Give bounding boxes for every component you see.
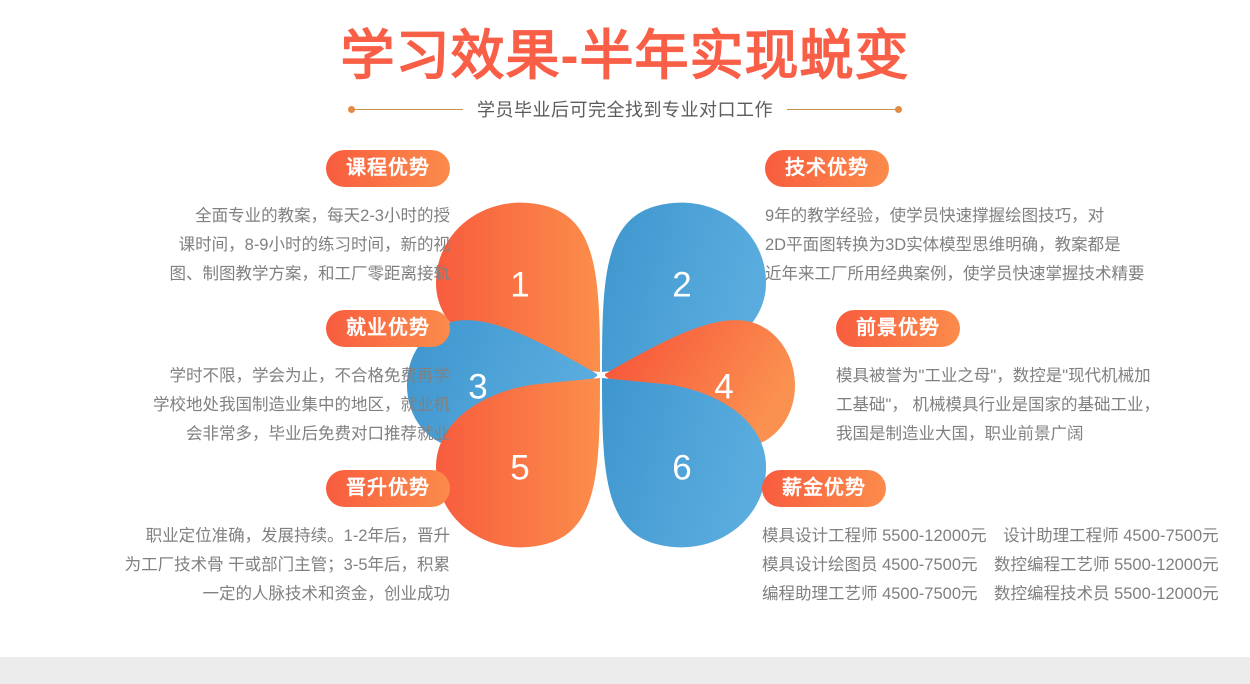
body-line: 图、制图教学方案，和工厂零距离接轨	[60, 260, 450, 289]
body-line: 我国是制造业大国，职业前景广阔	[836, 420, 1201, 449]
subtitle-rule-left	[351, 109, 463, 110]
block-body: 模具被誉为"工业之母"，数控是"现代机械加 工基础"， 机械模具行业是国家的基础…	[836, 362, 1201, 449]
body-line: 学时不限，学会为止，不合格免费再学	[40, 362, 450, 391]
petal-2-number: 2	[672, 266, 691, 305]
header: 学习效果-半年实现蜕变 学员毕业后可完全找到专业对口工作	[0, 0, 1250, 122]
petal-diagram: 1 2 3 4 5	[398, 180, 802, 570]
body-line: 课时间，8-9小时的练习时间，新的视	[60, 231, 450, 260]
badge-course-advantage[interactable]: 课程优势	[326, 150, 450, 187]
subtitle-row: 学员毕业后可完全找到专业对口工作	[0, 96, 1250, 122]
body-line: 学校地处我国制造业集中的地区，就业机	[40, 391, 450, 420]
advantage-block-prospect: 前景优势 模具被誉为"工业之母"，数控是"现代机械加 工基础"， 机械模具行业是…	[836, 310, 1201, 449]
advantage-block-promotion: 晋升优势 职业定位准确，发展持续。1-2年后，晋升 为工厂技术骨 干或部门主管；…	[55, 470, 450, 609]
advantage-block-salary: 薪金优势 模具设计工程师 5500-12000元 设计助理工程师 4500-75…	[762, 470, 1202, 609]
page-title: 学习效果-半年实现蜕变	[0, 26, 1250, 86]
petal-5-number: 5	[510, 449, 529, 488]
block-body: 学时不限，学会为止，不合格免费再学 学校地处我国制造业集中的地区，就业机 会非常…	[40, 362, 450, 449]
body-line: 全面专业的教案，每天2-3小时的授	[60, 202, 450, 231]
bottom-band	[0, 657, 1250, 684]
advantage-block-course: 课程优势 全面专业的教案，每天2-3小时的授 课时间，8-9小时的练习时间，新的…	[60, 150, 450, 289]
body-line: 工基础"， 机械模具行业是国家的基础工业，	[836, 391, 1201, 420]
badge-technology-advantage[interactable]: 技术优势	[765, 150, 889, 187]
badge-wrap: 就业优势	[40, 310, 450, 347]
body-line: 一定的人脉技术和资金，创业成功	[55, 580, 450, 609]
petal-6-number: 6	[672, 449, 691, 488]
badge-employment-advantage[interactable]: 就业优势	[326, 310, 450, 347]
body-line: 模具设计工程师 5500-12000元 设计助理工程师 4500-7500元	[762, 522, 1202, 551]
badge-wrap: 前景优势	[836, 310, 1201, 347]
badge-wrap: 课程优势	[60, 150, 450, 187]
block-body: 9年的教学经验，使学员快速撑握绘图技巧，对 2D平面图转换为3D实体模型思维明确…	[765, 202, 1195, 289]
body-line: 为工厂技术骨 干或部门主管；3-5年后，积累	[55, 551, 450, 580]
body-line: 编程助理工艺师 4500-7500元 数控编程技术员 5500-12000元	[762, 580, 1202, 609]
body-line: 近年来工厂所用经典案例，使学员快速掌握技术精要	[765, 260, 1195, 289]
body-line: 模具被誉为"工业之母"，数控是"现代机械加	[836, 362, 1201, 391]
rule-dot-left-icon	[348, 106, 355, 113]
advantage-block-technology: 技术优势 9年的教学经验，使学员快速撑握绘图技巧，对 2D平面图转换为3D实体模…	[765, 150, 1195, 289]
rule-dot-right-icon	[895, 106, 902, 113]
petal-1-number: 1	[510, 266, 529, 305]
body-line: 2D平面图转换为3D实体模型思维明确，教案都是	[765, 231, 1195, 260]
block-body: 模具设计工程师 5500-12000元 设计助理工程师 4500-7500元 模…	[762, 522, 1202, 609]
body-line: 职业定位准确，发展持续。1-2年后，晋升	[55, 522, 450, 551]
badge-salary-advantage[interactable]: 薪金优势	[762, 470, 886, 507]
body-line: 模具设计绘图员 4500-7500元 数控编程工艺师 5500-12000元	[762, 551, 1202, 580]
body-line: 9年的教学经验，使学员快速撑握绘图技巧，对	[765, 202, 1195, 231]
advantage-block-employment: 就业优势 学时不限，学会为止，不合格免费再学 学校地处我国制造业集中的地区，就业…	[40, 310, 450, 449]
block-body: 职业定位准确，发展持续。1-2年后，晋升 为工厂技术骨 干或部门主管；3-5年后…	[55, 522, 450, 609]
badge-prospect-advantage[interactable]: 前景优势	[836, 310, 960, 347]
block-body: 全面专业的教案，每天2-3小时的授 课时间，8-9小时的练习时间，新的视 图、制…	[60, 202, 450, 289]
badge-wrap: 技术优势	[765, 150, 1195, 187]
badge-promotion-advantage[interactable]: 晋升优势	[326, 470, 450, 507]
body-line: 会非常多，毕业后免费对口推荐就业	[40, 420, 450, 449]
infographic-page: 学习效果-半年实现蜕变 学员毕业后可完全找到专业对口工作	[0, 0, 1250, 684]
badge-wrap: 薪金优势	[762, 470, 1202, 507]
page-subtitle: 学员毕业后可完全找到专业对口工作	[477, 96, 773, 122]
badge-wrap: 晋升优势	[55, 470, 450, 507]
subtitle-rule-right	[787, 109, 899, 110]
